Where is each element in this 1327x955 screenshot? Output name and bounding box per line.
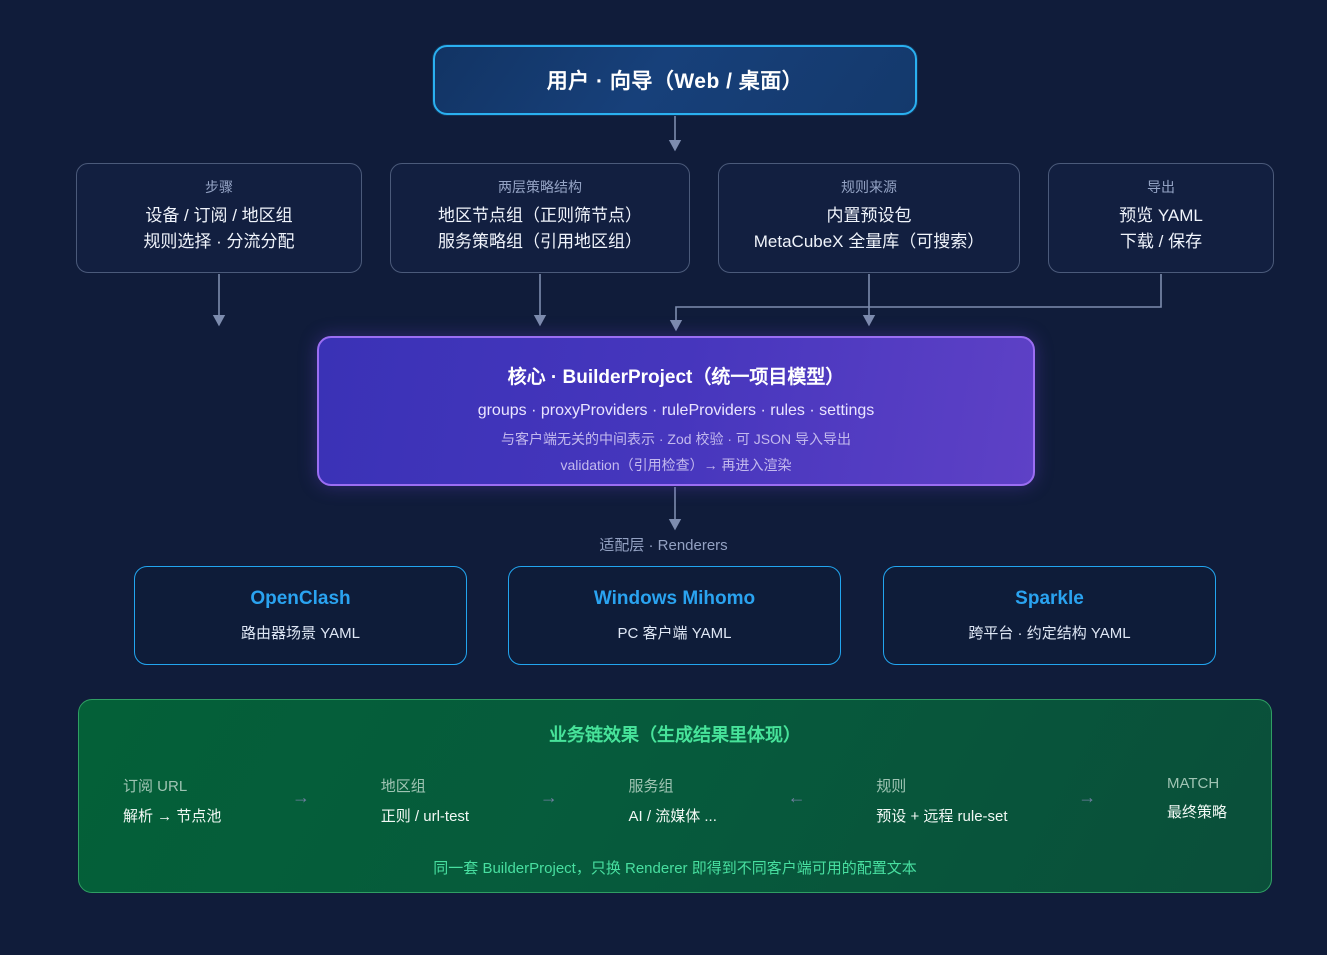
chain-step-value: 正则 / url-test: [381, 805, 469, 826]
card-steps-caption: 步骤: [205, 180, 233, 195]
core-subtitle-2: validation（引用检查）→ 再进入渲染: [560, 453, 791, 479]
node-user-wizard[interactable]: 用户 · 向导（Web / 桌面）: [433, 45, 917, 115]
card-policy-structure-line2: 服务策略组（引用地区组）: [438, 229, 642, 255]
chain-arrow-2-icon: →: [469, 787, 628, 808]
card-export[interactable]: 导出 预览 YAML 下载 / 保存: [1048, 163, 1274, 273]
node-user-wizard-title: 用户 · 向导（Web / 桌面）: [547, 65, 804, 95]
card-export-line1: 预览 YAML: [1119, 203, 1203, 229]
card-rule-sources-line1: 内置预设包: [827, 203, 912, 229]
chain-step-subscription-url: 订阅 URL 解析 → 节点池: [123, 775, 221, 826]
chain-step-value: 解析 → 节点池: [123, 805, 221, 826]
renderer-openclash-subtitle: 路由器场景 YAML: [241, 622, 360, 643]
chain-arrow-4-icon: →: [1008, 787, 1167, 808]
node-renderer-openclash[interactable]: OpenClash 路由器场景 YAML: [134, 566, 467, 665]
core-subtitle-1: 与客户端无关的中间表示 · Zod 校验 · 可 JSON 导入导出: [501, 427, 851, 453]
chain-step-caption: MATCH: [1167, 775, 1227, 792]
architecture-diagram: 用户 · 向导（Web / 桌面） 步骤 设备 / 订阅 / 地区组 规则选择 …: [0, 0, 1327, 955]
card-steps-line1: 设备 / 订阅 / 地区组: [145, 203, 292, 229]
card-export-line2: 下载 / 保存: [1120, 229, 1202, 255]
chain-step-value: AI / 流媒体 ...: [629, 805, 717, 826]
card-policy-structure-caption: 两层策略结构: [498, 180, 582, 195]
core-title: 核心 · BuilderProject（统一项目模型）: [508, 362, 845, 389]
wire-card3-core: [676, 274, 1161, 325]
card-rule-sources-line2: MetaCubeX 全量库（可搜索）: [754, 229, 985, 255]
chain-arrow-1-icon: →: [221, 787, 380, 808]
card-policy-structure-line1: 地区节点组（正则筛节点）: [438, 203, 642, 229]
panel-business-chain: 业务链效果（生成结果里体现） 订阅 URL 解析 → 节点池 → 地区组 正则 …: [78, 699, 1272, 893]
chain-step-rules: 规则 预设 + 远程 rule-set: [876, 775, 1007, 826]
chain-step-value: 预设 + 远程 rule-set: [876, 805, 1007, 826]
chain-arrow-3-icon: ←: [717, 787, 876, 808]
chain-step-caption: 订阅 URL: [123, 775, 221, 796]
node-renderer-sparkle[interactable]: Sparkle 跨平台 · 约定结构 YAML: [883, 566, 1216, 665]
chain-step-caption: 规则: [876, 775, 1007, 796]
business-chain-flow: 订阅 URL 解析 → 节点池 → 地区组 正则 / url-test → 服务…: [123, 775, 1227, 826]
business-chain-footer: 同一套 BuilderProject，只换 Renderer 即得到不同客户端可…: [79, 857, 1271, 878]
core-keys: groups · proxyProviders · ruleProviders …: [478, 402, 875, 420]
chain-step-region-group: 地区组 正则 / url-test: [381, 775, 469, 826]
chain-step-value: 最终策略: [1167, 801, 1227, 822]
renderer-windows-mihomo-title: Windows Mihomo: [594, 588, 755, 610]
renderer-sparkle-title: Sparkle: [1015, 588, 1084, 610]
renderer-windows-mihomo-subtitle: PC 客户端 YAML: [618, 622, 732, 643]
renderer-sparkle-subtitle: 跨平台 · 约定结构 YAML: [968, 622, 1130, 643]
chain-step-match: MATCH 最终策略: [1167, 775, 1227, 822]
card-steps-line2: 规则选择 · 分流分配: [143, 229, 294, 255]
renderers-layer-label: 适配层 · Renderers: [0, 534, 1327, 555]
business-chain-title: 业务链效果（生成结果里体现）: [79, 721, 1271, 747]
node-core-builderproject[interactable]: 核心 · BuilderProject（统一项目模型） groups · pro…: [317, 336, 1035, 486]
card-rule-sources[interactable]: 规则来源 内置预设包 MetaCubeX 全量库（可搜索）: [718, 163, 1020, 273]
chain-step-caption: 服务组: [629, 775, 717, 796]
chain-step-caption: 地区组: [381, 775, 469, 796]
card-steps[interactable]: 步骤 设备 / 订阅 / 地区组 规则选择 · 分流分配: [76, 163, 362, 273]
renderer-openclash-title: OpenClash: [250, 588, 350, 610]
card-export-caption: 导出: [1147, 180, 1175, 195]
card-policy-structure[interactable]: 两层策略结构 地区节点组（正则筛节点） 服务策略组（引用地区组）: [390, 163, 690, 273]
chain-step-service-group: 服务组 AI / 流媒体 ...: [629, 775, 717, 826]
card-rule-sources-caption: 规则来源: [841, 180, 897, 195]
node-renderer-windows-mihomo[interactable]: Windows Mihomo PC 客户端 YAML: [508, 566, 841, 665]
